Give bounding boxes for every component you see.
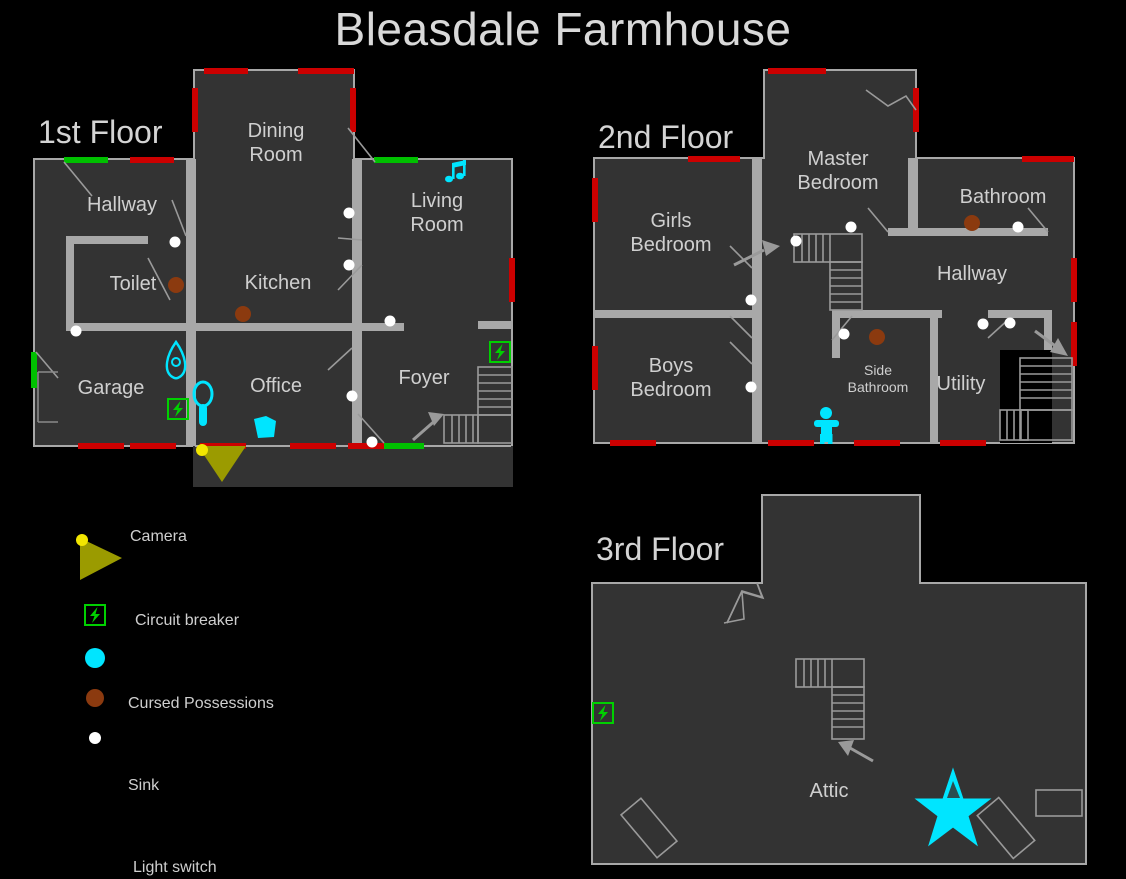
sink-icon <box>964 215 980 231</box>
floor-label-1: 1st Floor <box>38 114 162 151</box>
light-switch-icon <box>367 437 378 448</box>
light-switch-icon <box>385 316 396 327</box>
floor-label-3: 3rd Floor <box>596 531 724 568</box>
light-switch-dot-icon <box>89 732 101 744</box>
legend-row-camera: Camera <box>60 520 400 562</box>
light-switch-icon <box>170 237 181 248</box>
light-switch-icon <box>347 391 358 402</box>
legend-row-sink: Sink <box>60 646 400 688</box>
floor-label-2: 2nd Floor <box>598 119 733 156</box>
light-switch-icon <box>1005 318 1016 329</box>
sink-icon <box>869 329 885 345</box>
legend-label-camera: Camera <box>130 528 187 546</box>
light-switch-icon <box>791 236 802 247</box>
legend-label-light-switch: Light switch <box>133 859 217 877</box>
light-switch-icon <box>344 260 355 271</box>
light-switch-icon <box>846 222 857 233</box>
legend-row-circuit-breaker: Circuit breaker <box>60 562 400 604</box>
legend: Camera Circuit breaker Cursed Possession… <box>60 520 400 730</box>
light-switch-icon <box>746 295 757 306</box>
light-switch-icon <box>978 319 989 330</box>
light-switch-icon <box>344 208 355 219</box>
light-switch-icon <box>1013 222 1024 233</box>
legend-row-light-switch: Light switch <box>60 688 400 730</box>
light-switch-icon <box>746 382 757 393</box>
light-switch-icon <box>839 329 850 340</box>
sink-icon <box>168 277 184 293</box>
sink-icon <box>235 306 251 322</box>
legend-label-sink: Sink <box>128 777 159 795</box>
floorplan-canvas <box>0 0 1126 879</box>
legend-row-cursed-possessions: Cursed Possessions <box>60 604 400 646</box>
floorplan-page: Bleasdale Farmhouse <box>0 0 1126 879</box>
light-switch-icon <box>71 326 82 337</box>
